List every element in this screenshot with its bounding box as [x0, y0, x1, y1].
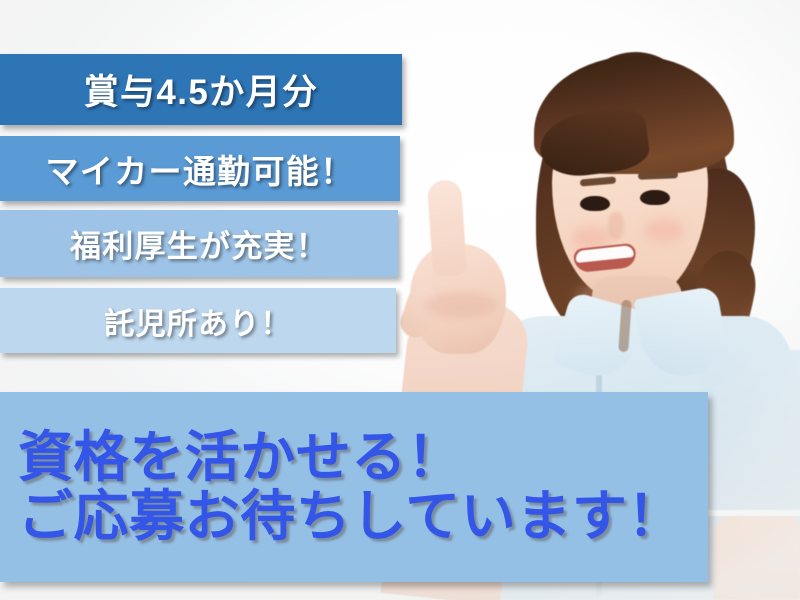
cta-line-2: ご応募お待ちしています！ [18, 487, 708, 546]
benefit-bar-label: 福利厚生が充実！ [70, 221, 328, 266]
benefit-bar-nursery: 託児所あり！ [0, 288, 396, 353]
recruitment-banner: 賞与4.5か月分 マイカー通勤可能！ 福利厚生が充実！ 託児所あり！ 資格を活か… [0, 0, 800, 600]
benefit-bar-car-commute: マイカー通勤可能！ [0, 136, 400, 201]
benefit-bar-label: 託児所あり！ [104, 299, 291, 343]
benefit-bar-label: 賞与4.5か月分 [84, 64, 319, 115]
cta-line-1: 資格を活かせる！ [18, 428, 708, 487]
benefit-bar-label: マイカー通勤可能！ [46, 145, 355, 193]
benefit-bar-bonus: 賞与4.5か月分 [0, 54, 402, 125]
call-to-action-panel: 資格を活かせる！ ご応募お待ちしています！ [0, 392, 708, 582]
benefit-bar-welfare: 福利厚生が充実！ [0, 210, 398, 277]
